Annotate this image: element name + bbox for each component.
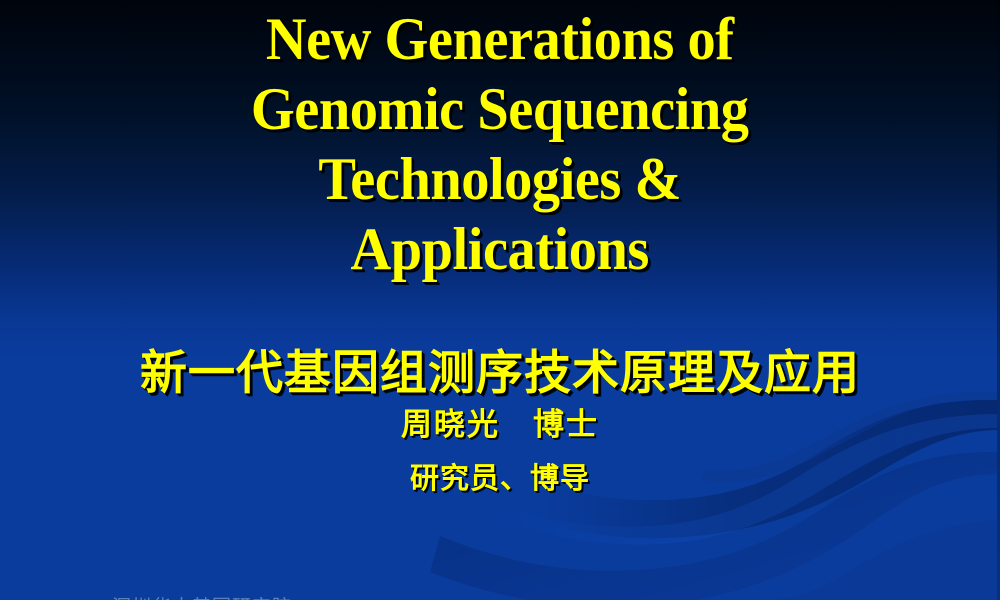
chinese-headline: 新一代基因组测序技术原理及应用 (140, 346, 860, 402)
presenter-title: 研究员、博导 (410, 460, 590, 496)
presenter-affiliation: 深圳华大基因研究院 (112, 596, 432, 600)
title-line-4: Applications (251, 214, 749, 284)
presenter-name: 周晓光 博士 (401, 406, 599, 444)
slide-content: New Generations of Genomic Sequencing Te… (0, 0, 1000, 600)
title-line-1: New Generations of (251, 4, 749, 74)
title-line-2: Genomic Sequencing (251, 74, 749, 144)
title-line-3: Technologies & (251, 144, 749, 214)
english-title-block: New Generations of Genomic Sequencing Te… (235, 4, 764, 284)
affiliation-clipped-region: 深圳华大基因研究院 (112, 596, 432, 600)
title-slide: New Generations of Genomic Sequencing Te… (0, 0, 1000, 600)
